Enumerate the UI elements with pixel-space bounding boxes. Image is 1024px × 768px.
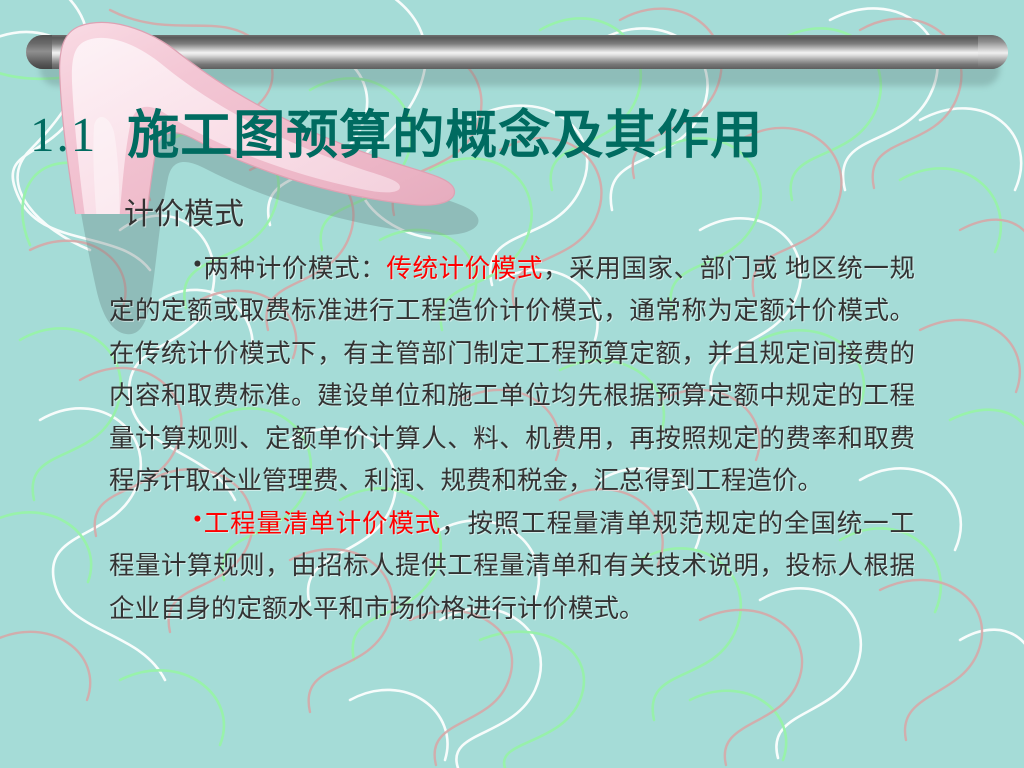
bullet-paragraph-1: •两种计价模式：传统计价模式，采用国家、部门或 地区统一规定的定额或取费标准进行… <box>109 248 915 503</box>
title-text: 施工图预算的概念及其作用 <box>127 110 763 162</box>
bullet-highlight-2: 工程量清单计价模式 <box>203 509 441 538</box>
bullet-paragraph-2: •工程量清单计价模式，按照工程量清单规范规定的全国统一工程量计算规则，由招标人提… <box>109 503 915 631</box>
metal-bar <box>26 35 1008 69</box>
slide-canvas: 1.1 施工图预算的概念及其作用 计价模式 •两种计价模式：传统计价模式，采用国… <box>0 0 1024 768</box>
title-number: 1.1 <box>30 110 97 159</box>
bullet-highlight-1: 传统计价模式 <box>386 254 543 283</box>
body-content: 计价模式 •两种计价模式：传统计价模式，采用国家、部门或 地区统一规定的定额或取… <box>0 196 1024 630</box>
metal-bar-right-cap <box>978 35 1008 69</box>
metal-bar-left-cap <box>26 35 52 69</box>
bullet-lead-text-1: 两种计价模式： <box>203 254 386 283</box>
page-title: 1.1 施工图预算的概念及其作用 <box>0 110 1024 184</box>
subheading: 计价模式 <box>124 196 1024 234</box>
bullet-body-text-1: ，采用国家、部门或 地区统一规定的定额或取费标准进行工程造价计价模式，通常称为定… <box>109 254 915 496</box>
bullet-marker-2: • <box>151 506 202 532</box>
bullet-marker-1: • <box>151 251 202 277</box>
